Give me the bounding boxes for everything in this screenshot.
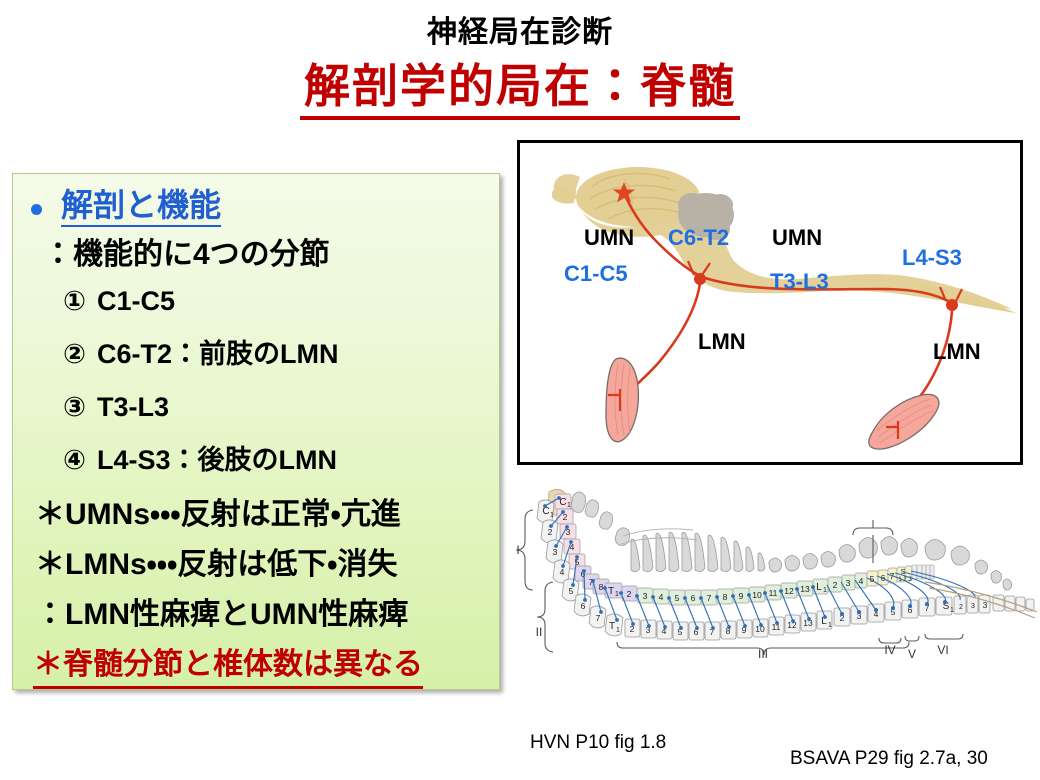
- muscle-forelimb-shape: [606, 358, 638, 442]
- segment-label-2: C6-T2：前肢のLMN: [97, 339, 339, 369]
- svg-text:3: 3: [971, 603, 975, 610]
- segment-marker-3: ③: [63, 390, 97, 424]
- cns-label-t3-l3: T3-L3: [770, 269, 829, 295]
- svg-text:13: 13: [800, 584, 810, 594]
- svg-text:1: 1: [550, 512, 554, 519]
- cns-label-umn-thoracic: UMN: [772, 225, 822, 251]
- svg-text:3: 3: [643, 591, 648, 601]
- svg-text:4: 4: [659, 592, 664, 602]
- cns-label-c1-c5: C1-C5: [564, 261, 628, 287]
- credit-hvn: HVN P10 fig 1.8: [530, 732, 666, 754]
- cns-label-c6-t2: C6-T2: [668, 225, 729, 251]
- page-title-text: 解剖学的局在：脊髄: [300, 58, 740, 120]
- svg-text:T: T: [608, 586, 614, 597]
- muscle-hindlimb-shape: [869, 394, 939, 449]
- spinous-processes: [571, 492, 1012, 590]
- cns-diagram-frame: UMN C1-C5 C6-T2 UMN T3-L3 L4-S3 LMN LMN: [517, 140, 1023, 465]
- svg-text:5: 5: [675, 593, 680, 603]
- segment-label-3: T3-L3: [97, 392, 169, 422]
- content-panel: 解剖と機能 ：機能的に4つの分節 ①C1-C5 ②C6-T2：前肢のLMN ③T…: [12, 173, 500, 690]
- segment-label-4: L4-S3：後肢のLMN: [97, 445, 337, 475]
- svg-text:5: 5: [569, 586, 574, 596]
- cns-label-l4-s3: L4-S3: [902, 245, 962, 271]
- credit-bsava: BSAVA P29 fig 2.7a, 30: [790, 748, 988, 770]
- segment-label-1: C1-C5: [97, 286, 175, 316]
- svg-text:V: V: [908, 647, 916, 658]
- cns-label-umn-cervical: UMN: [584, 225, 634, 251]
- page-title: 解剖学的局在：脊髄: [0, 58, 1040, 120]
- svg-text:1: 1: [616, 627, 620, 634]
- slide-subtitle: 神経局在診断: [0, 16, 1040, 50]
- svg-text:2: 2: [959, 604, 963, 611]
- svg-text:8: 8: [723, 592, 728, 602]
- vertebral-column-illustration: C1 2345 678 T1 2 345 678 91011 1213 L1 2…: [505, 478, 1040, 658]
- svg-text:2: 2: [548, 527, 553, 537]
- svg-text:7: 7: [707, 593, 712, 603]
- content-heading: 解剖と機能: [61, 186, 221, 227]
- svg-text:6: 6: [581, 601, 586, 611]
- note-lmns: ＊LMNs・・・反射は低下・消失: [35, 546, 397, 584]
- svg-text:C: C: [542, 506, 549, 517]
- svg-text:7: 7: [596, 613, 601, 623]
- svg-text:III: III: [758, 647, 768, 658]
- cns-diagram-illustration: [520, 143, 1020, 462]
- svg-text:10: 10: [752, 590, 762, 600]
- segment-item-2: ②C6-T2：前肢のLMN: [63, 337, 339, 371]
- svg-text:VI: VI: [937, 643, 948, 657]
- svg-text:T: T: [609, 621, 615, 632]
- segment-item-1: ①C1-C5: [63, 284, 175, 318]
- cns-label-lmn-forelimb: LMN: [698, 329, 746, 355]
- lmn-nerve-paths: [632, 283, 952, 419]
- slide-root: 神経局在診断 解剖学的局在：脊髄 解剖と機能 ：機能的に4つの分節 ①C1-C5…: [0, 0, 1040, 780]
- svg-text:9: 9: [739, 591, 744, 601]
- content-subheading: ：機能的に4つの分節: [43, 236, 330, 274]
- svg-text:11: 11: [769, 588, 778, 598]
- svg-text:1: 1: [567, 502, 571, 509]
- svg-text:6: 6: [691, 593, 696, 603]
- note-palsy-types: ：LMN性麻痺とUMN性麻痺: [35, 596, 408, 634]
- svg-text:IV: IV: [884, 643, 895, 657]
- svg-text:12: 12: [784, 586, 794, 596]
- svg-text:I: I: [516, 543, 519, 557]
- svg-text:L: L: [816, 582, 822, 593]
- svg-text:1: 1: [828, 622, 832, 629]
- note-umns: ＊UMNs・・・反射は正常・亢進: [35, 496, 401, 534]
- cns-label-lmn-hindlimb: LMN: [933, 339, 981, 365]
- svg-text:1: 1: [615, 591, 619, 598]
- bullet-dot-icon: [31, 204, 42, 215]
- svg-text:1: 1: [823, 587, 827, 594]
- vertebral-column-diagram: C1 2345 678 T1 2 345 678 91011 1213 L1 2…: [505, 478, 1040, 658]
- svg-text:1: 1: [950, 607, 954, 614]
- segment-marker-2: ②: [63, 337, 97, 371]
- svg-text:II: II: [536, 625, 543, 639]
- segment-marker-4: ④: [63, 443, 97, 477]
- svg-text:8: 8: [599, 582, 604, 592]
- svg-text:2: 2: [627, 589, 632, 599]
- warning-note: ＊脊髄分節と椎体数は異なる: [33, 646, 423, 689]
- svg-text:4: 4: [859, 576, 864, 586]
- svg-text:3: 3: [553, 547, 558, 557]
- segment-item-3: ③T3-L3: [63, 390, 169, 424]
- segment-marker-1: ①: [63, 284, 97, 318]
- segment-item-4: ④L4-S3：後肢のLMN: [63, 443, 337, 477]
- svg-text:4: 4: [560, 567, 565, 577]
- svg-text:2: 2: [833, 580, 838, 590]
- svg-text:3: 3: [846, 578, 851, 588]
